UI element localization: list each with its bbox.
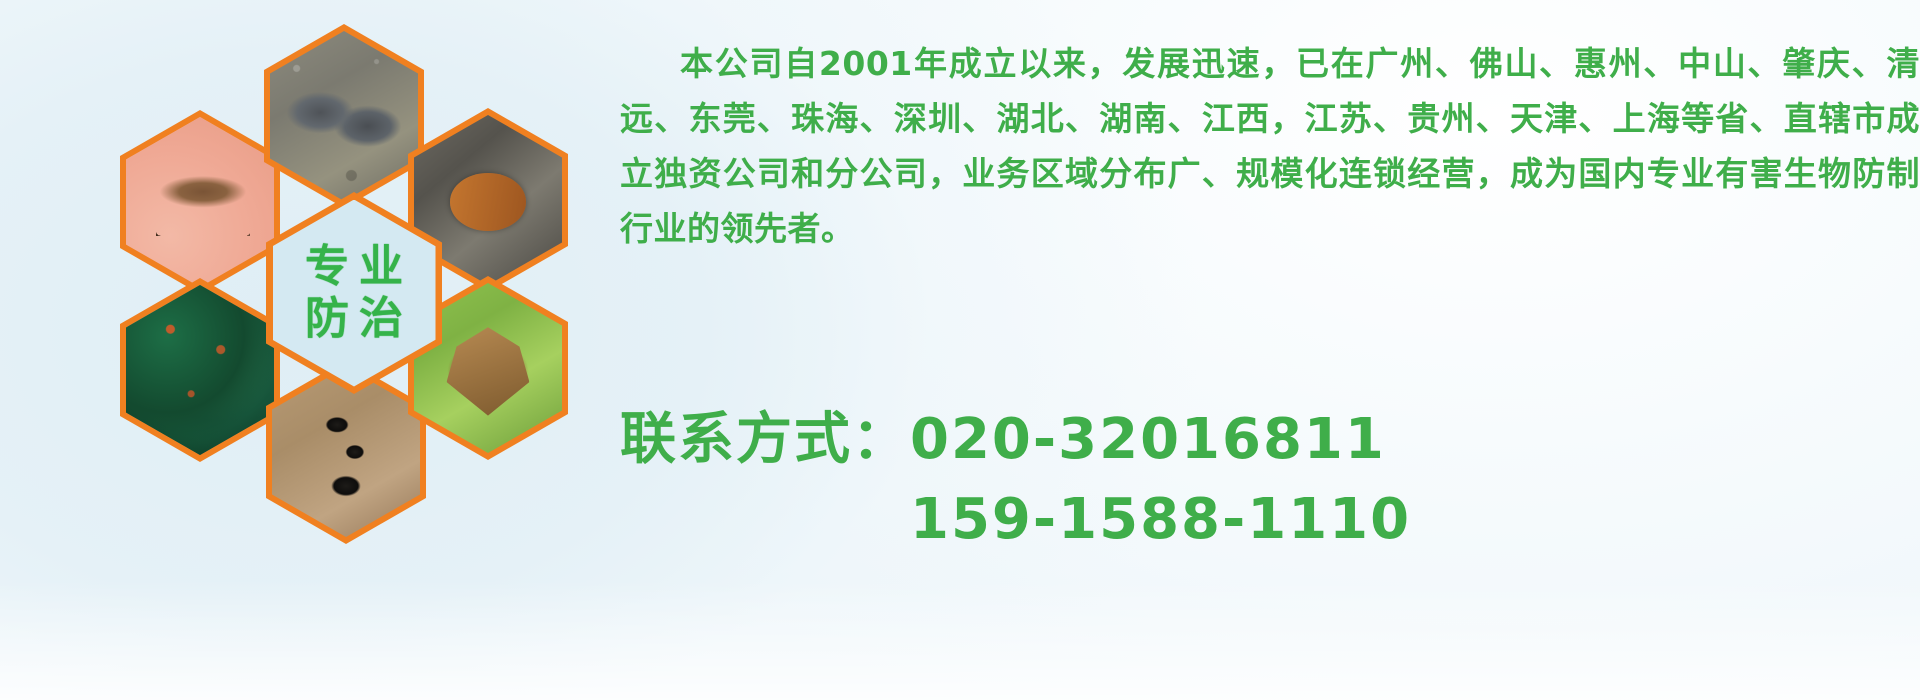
- rat-photo: [270, 31, 418, 201]
- hexagon-rats: [264, 24, 424, 208]
- hexagon-ants-inner: [272, 367, 420, 537]
- hexagon-rats-inner: [270, 31, 418, 201]
- hexagon-flies: [120, 278, 280, 462]
- hexagon-logo-inner: 专业 防治: [273, 200, 436, 387]
- logo-line-2: 防治: [295, 297, 413, 341]
- ant-photo: [272, 367, 420, 537]
- hexagon-photo-cluster: 专业 防治: [80, 0, 600, 580]
- hexagon-flies-inner: [126, 285, 274, 455]
- contact-block: 联系方式：020-32016811 159-1588-1110: [620, 400, 1920, 560]
- contact-line-1[interactable]: 联系方式：020-32016811: [620, 400, 1920, 480]
- promo-banner: 专业 防治 本公司自2001年成立以来，发展迅速，已在广州、佛山、惠州、中山、肇…: [0, 0, 1920, 700]
- contact-line-2[interactable]: 159-1588-1110: [620, 480, 1920, 560]
- mosquito-photo: [126, 117, 274, 287]
- hexagon-mosquito: [120, 110, 280, 294]
- fly-photo: [126, 285, 274, 455]
- hexagon-mosquito-inner: [126, 117, 274, 287]
- logo-line-1: 专业: [295, 245, 413, 289]
- company-intro-paragraph: 本公司自2001年成立以来，发展迅速，已在广州、佛山、惠州、中山、肇庆、清远、东…: [620, 36, 1920, 256]
